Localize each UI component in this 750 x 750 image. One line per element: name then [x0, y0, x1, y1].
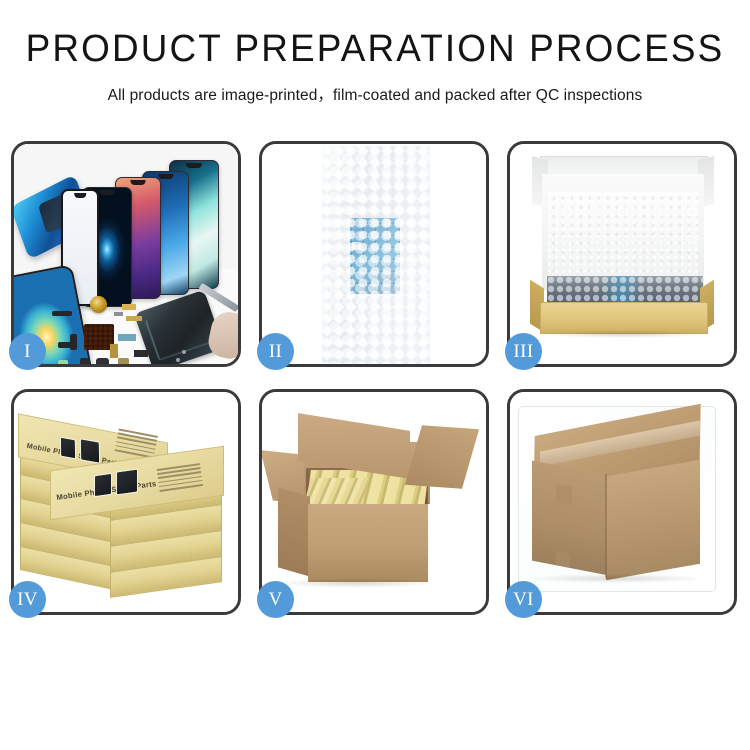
- page-header: PRODUCT PREPARATION PROCESS All products…: [0, 0, 750, 105]
- panel-5-image: [262, 392, 486, 612]
- box-art-screen-d: [116, 468, 138, 495]
- carton-handle-tab-lower: [556, 551, 570, 568]
- notch-icon: [99, 190, 115, 195]
- process-step-panel-4[interactable]: Mobile Phone Spare Parts Mobile Phone Sp…: [11, 389, 241, 615]
- small-part-bar: [52, 311, 72, 316]
- notch-icon: [186, 163, 202, 168]
- screw-icon: [182, 350, 186, 354]
- step-badge-4: IV: [9, 581, 46, 618]
- carton-drop-shadow: [276, 578, 436, 588]
- page-subtitle: All products are image-printed，film-coat…: [0, 83, 750, 105]
- box-art-screen-b: [80, 438, 100, 464]
- carton-handle-tab-upper: [556, 484, 572, 505]
- process-step-panel-6[interactable]: VI: [507, 389, 737, 615]
- carton-drop-shadow: [528, 574, 704, 583]
- retail-box-stack: Mobile Phone Spare Parts Mobile Phone Sp…: [18, 414, 236, 604]
- step-badge-3: III: [505, 333, 542, 370]
- carton-corner-seam: [605, 474, 607, 578]
- small-part-module: [118, 358, 129, 364]
- plastic-sheen-overlay: [322, 146, 430, 364]
- small-part-clip: [114, 312, 123, 316]
- carton-front-wall: [308, 504, 428, 582]
- panel-6-image: [510, 392, 734, 612]
- notch-icon: [74, 193, 86, 198]
- box-art-screen-a: [60, 437, 76, 460]
- carton-flap-right: [405, 425, 479, 489]
- process-step-grid: I II III: [11, 141, 739, 615]
- process-step-panel-2[interactable]: II: [259, 141, 489, 367]
- carton-front-face: [532, 461, 608, 576]
- notch-icon: [131, 180, 146, 185]
- panel-3-image: [510, 144, 734, 364]
- foam-insert: [548, 192, 698, 288]
- small-part-flex-b: [126, 316, 142, 321]
- panel-4-image: Mobile Phone Spare Parts Mobile Phone Sp…: [14, 392, 238, 612]
- carton-right-face: [606, 460, 700, 581]
- panel-2-image: [262, 144, 486, 364]
- step-badge-2: II: [257, 333, 294, 370]
- box-art-screen-c: [94, 473, 112, 498]
- process-step-panel-5[interactable]: V: [259, 389, 489, 615]
- small-part-antenna: [134, 350, 148, 357]
- step-badge-6: VI: [505, 581, 542, 618]
- process-step-panel-1[interactable]: I: [11, 141, 241, 367]
- panel-1-image: [14, 144, 238, 364]
- wrapped-contents-row: [547, 276, 703, 304]
- copper-coil-part: [90, 296, 107, 313]
- step-badge-5: V: [257, 581, 294, 618]
- bubble-wrap-sleeve: [322, 146, 430, 364]
- screw-icon: [176, 358, 180, 362]
- carton-side-left: [278, 487, 310, 576]
- small-part-battery: [58, 360, 68, 364]
- small-part-camera: [80, 358, 90, 364]
- page-title: PRODUCT PREPARATION PROCESS: [11, 30, 739, 70]
- small-part-bracket: [58, 342, 74, 348]
- process-step-panel-3[interactable]: III: [507, 141, 737, 367]
- step-badge-1: I: [9, 333, 46, 370]
- small-part-flex-a: [122, 304, 136, 310]
- small-part-speaker: [96, 358, 109, 364]
- box-drop-shadow: [538, 330, 708, 338]
- notch-icon: [158, 174, 173, 179]
- small-part-connector: [118, 334, 136, 341]
- small-part-gold-flex: [110, 344, 118, 358]
